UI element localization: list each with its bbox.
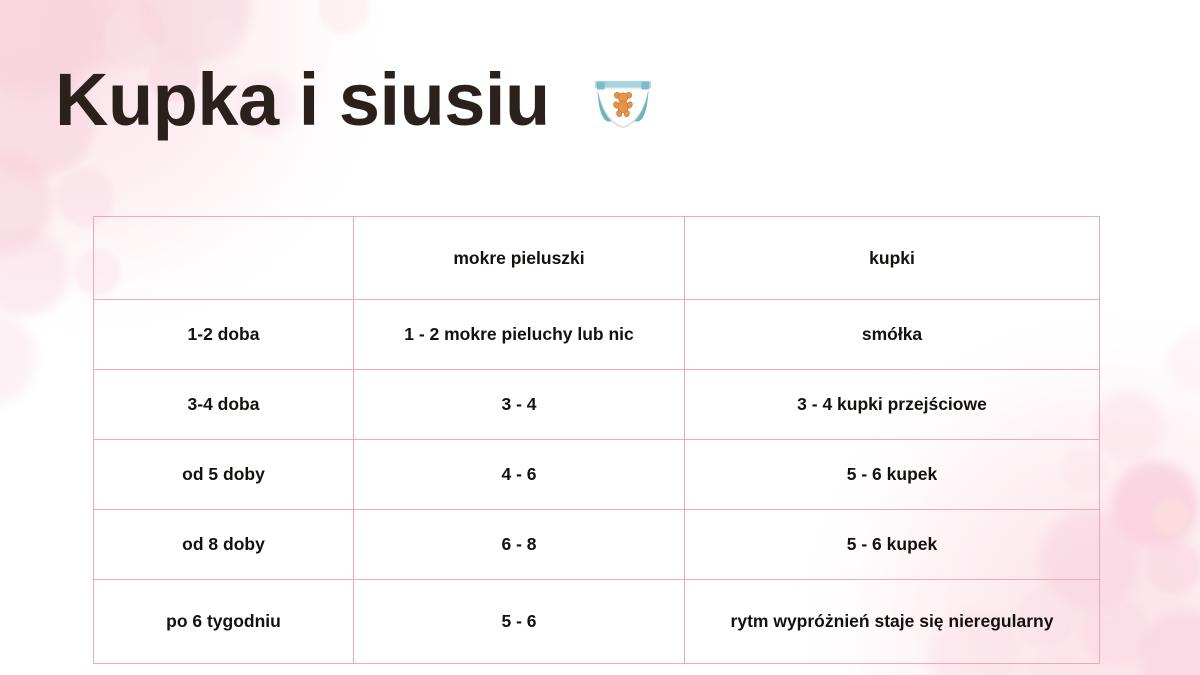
cell-period: od 5 doby [94,440,354,510]
cell-wet-diapers: 6 - 8 [354,510,685,580]
table-header-row: mokre pieluszki kupki [94,217,1100,300]
table-row: od 8 doby 6 - 8 5 - 6 kupek [94,510,1100,580]
cell-poops: 5 - 6 kupek [685,510,1100,580]
bokeh-circle [140,0,250,62]
bokeh-circle [1112,462,1198,548]
header-cell-poops: kupki [685,217,1100,300]
table-container: mokre pieluszki kupki 1-2 doba 1 - 2 mok… [93,216,1099,664]
cell-poops: rytm wypróżnień staje się nieregularny [685,580,1100,664]
bokeh-circle [0,150,52,254]
table-row: po 6 tygodniu 5 - 6 rytm wypróżnień staj… [94,580,1100,664]
cell-wet-diapers: 3 - 4 [354,370,685,440]
page-title: Kupka i siusiu [55,63,550,137]
bokeh-circle [202,18,242,58]
cell-poops: 3 - 4 kupki przejściowe [685,370,1100,440]
diaper-icon [592,77,654,129]
cell-wet-diapers: 1 - 2 mokre pieluchy lub nic [354,300,685,370]
cell-period: po 6 tygodniu [94,580,354,664]
table-header: mokre pieluszki kupki [94,217,1100,300]
header-cell-blank [94,217,354,300]
table-row: od 5 doby 4 - 6 5 - 6 kupek [94,440,1100,510]
cell-period: 3-4 doba [94,370,354,440]
table-row: 1-2 doba 1 - 2 mokre pieluchy lub nic sm… [94,300,1100,370]
cell-poops: 5 - 6 kupek [685,440,1100,510]
bokeh-circle [1146,540,1200,594]
cell-period: od 8 doby [94,510,354,580]
table-body: 1-2 doba 1 - 2 mokre pieluchy lub nic sm… [94,300,1100,664]
header-cell-wet-diapers: mokre pieluszki [354,217,685,300]
bokeh-circle [0,228,68,316]
cell-period: 1-2 doba [94,300,354,370]
cell-poops: smółka [685,300,1100,370]
cell-wet-diapers: 5 - 6 [354,580,685,664]
cell-wet-diapers: 4 - 6 [354,440,685,510]
slide-header: Kupka i siusiu [55,63,654,137]
bokeh-circle [1152,498,1190,536]
bokeh-circle [318,0,370,34]
table-row: 3-4 doba 3 - 4 3 - 4 kupki przejściowe [94,370,1100,440]
bokeh-circle [58,0,154,66]
bokeh-circle [1140,612,1200,675]
bokeh-circle [0,310,36,406]
bokeh-circle [1168,330,1200,392]
bokeh-circle [1094,392,1164,462]
poop-and-pee-table: mokre pieluszki kupki 1-2 doba 1 - 2 mok… [93,216,1100,664]
